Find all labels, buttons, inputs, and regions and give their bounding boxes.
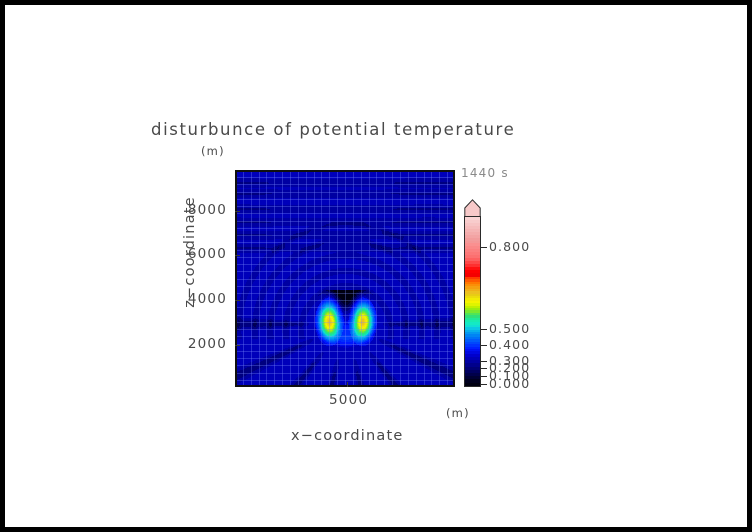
colorbar-tick xyxy=(481,361,487,362)
x-axis-tick-5000: 5000 xyxy=(329,392,368,408)
colorbar-label-0.000: 0.000 xyxy=(489,376,530,391)
title-unit-label: (m) xyxy=(201,144,225,158)
colorbar-label-0.400: 0.400 xyxy=(489,337,530,352)
colorbar-tick xyxy=(481,376,487,377)
y-tick-mark xyxy=(235,211,240,212)
colorbar-tick xyxy=(481,384,487,385)
temperature-field-canvas xyxy=(235,170,455,387)
page-title: disturbunce of potential temperature xyxy=(151,120,515,139)
y-axis-tick-4000: 4000 xyxy=(188,291,227,307)
x-axis-title: x−coordinate xyxy=(291,428,403,444)
y-axis-tick-labels: 8000600040002000 xyxy=(155,165,227,389)
y-tick-mark xyxy=(235,255,240,256)
y-axis-tick-2000: 2000 xyxy=(188,336,227,352)
colorbar-tick xyxy=(481,247,487,248)
colorbar xyxy=(464,199,481,387)
contour-plot-area xyxy=(235,170,455,387)
colorbar-segment xyxy=(465,383,480,386)
colorbar-tick xyxy=(481,329,487,330)
y-axis-tick-6000: 6000 xyxy=(188,246,227,262)
colorbar-overflow-arrow-icon xyxy=(464,199,481,217)
colorbar-label-0.800: 0.800 xyxy=(489,239,530,254)
colorbar-gradient xyxy=(464,216,481,387)
y-tick-mark xyxy=(235,300,240,301)
y-tick-mark xyxy=(235,345,240,346)
x-axis-unit-label: (m) xyxy=(446,406,470,420)
figure-page: disturbunce of potential temperature (m)… xyxy=(5,5,747,527)
time-stamp-label: 1440 s xyxy=(461,166,509,180)
y-axis-tick-8000: 8000 xyxy=(188,202,227,218)
colorbar-tick xyxy=(481,368,487,369)
x-tick-mark xyxy=(347,382,348,387)
colorbar-label-0.500: 0.500 xyxy=(489,321,530,336)
colorbar-tick xyxy=(481,345,487,346)
